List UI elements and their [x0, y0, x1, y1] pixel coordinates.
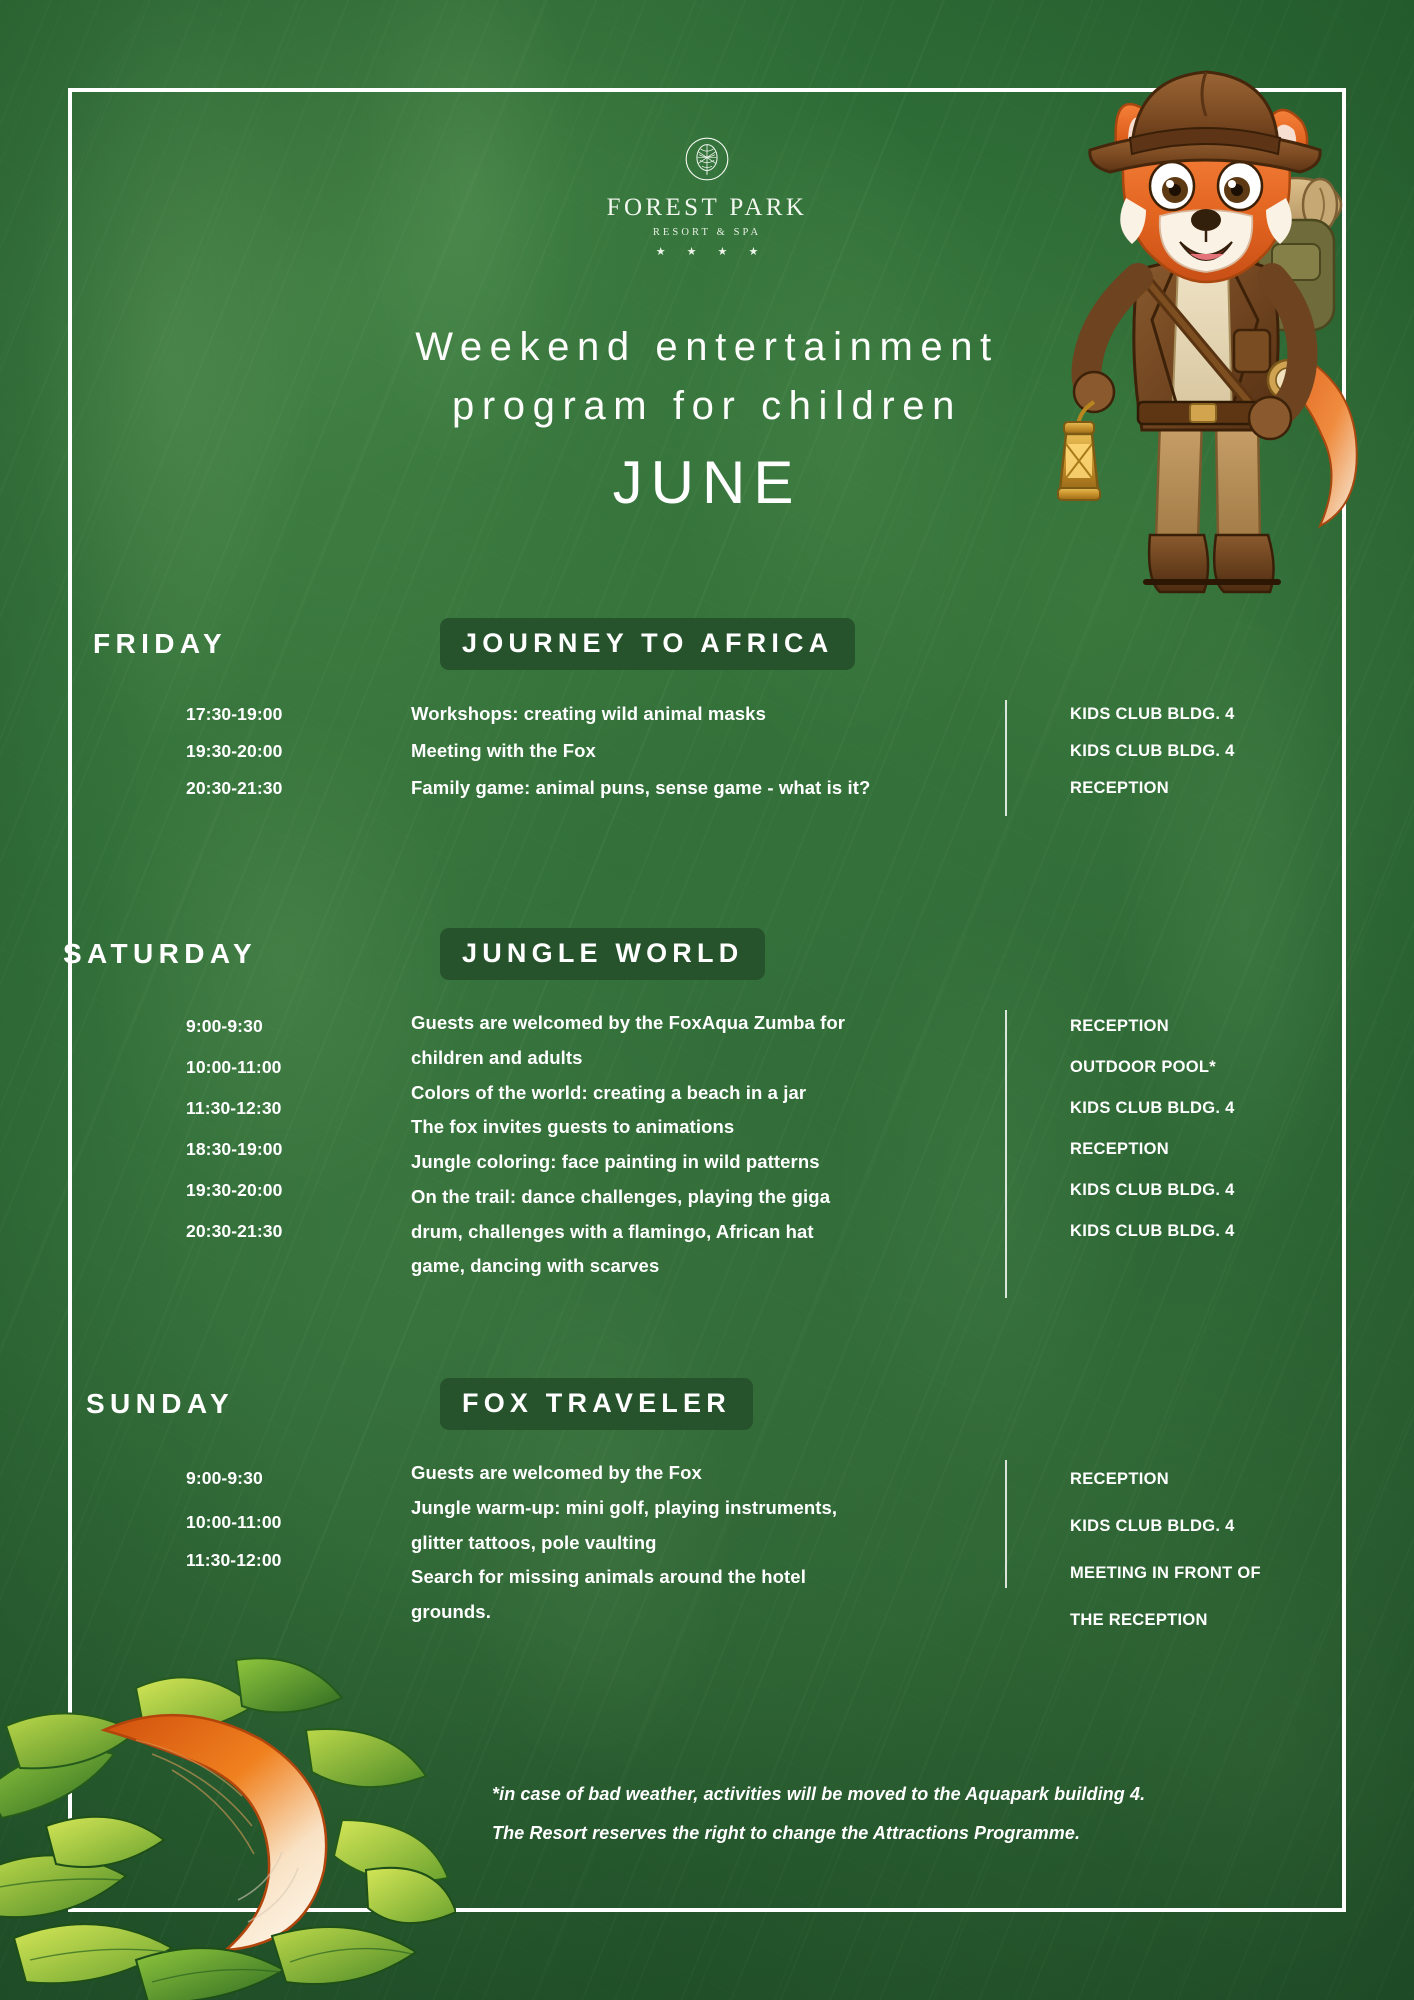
- schedule-time: 17:30-19:00: [186, 696, 411, 733]
- schedule-time: 10:00-11:00: [186, 1047, 411, 1088]
- footer-disclaimer: *in case of bad weather, activities will…: [492, 1775, 1292, 1852]
- schedule-location: RECEPTION: [1070, 770, 1350, 807]
- location-column: RECEPTION OUTDOOR POOL* KIDS CLUB BLDG. …: [1070, 1006, 1350, 1252]
- schedule-time: 20:30-21:30: [186, 770, 411, 807]
- lantern-icon: [1058, 402, 1100, 500]
- schedule-location: KIDS CLUB BLDG. 4: [1070, 696, 1350, 733]
- brand-name: FOREST PARK: [607, 194, 808, 222]
- schedule-location: RECEPTION: [1070, 1129, 1350, 1170]
- schedule-location: RECEPTION: [1070, 1456, 1350, 1503]
- poster-canvas: FOREST PARK RESORT & SPA ★ ★ ★ ★ Weekend…: [0, 0, 1414, 2000]
- jungle-foliage-fox-tail-icon: [0, 1540, 456, 2000]
- schedule-time: 9:00-9:30: [186, 1456, 411, 1500]
- schedule-activity: game, dancing with scarves: [411, 1249, 1414, 1284]
- day-body: 9:00-9:30 10:00-11:00 11:30-12:30 18:30-…: [0, 1006, 1414, 1284]
- schedule-time: 11:30-12:30: [186, 1088, 411, 1129]
- day-theme-saturday: JUNGLE WORLD: [440, 928, 765, 980]
- schedule-location: KIDS CLUB BLDG. 4: [1070, 733, 1350, 770]
- schedule-time: 9:00-9:30: [186, 1006, 411, 1047]
- day-name-friday: FRIDAY: [20, 628, 300, 660]
- schedule-location: KIDS CLUB BLDG. 4: [1070, 1503, 1350, 1550]
- day-header: SUNDAY FOX TRAVELER: [0, 1378, 1414, 1430]
- schedule-time: 10:00-11:00: [186, 1500, 411, 1544]
- schedule-location: RECEPTION: [1070, 1006, 1350, 1047]
- location-column: RECEPTION KIDS CLUB BLDG. 4 MEETING IN F…: [1070, 1456, 1350, 1644]
- day-theme-friday: JOURNEY TO AFRICA: [440, 618, 855, 670]
- schedule-location: THE RECEPTION: [1070, 1597, 1350, 1644]
- schedule-location: KIDS CLUB BLDG. 4: [1070, 1211, 1350, 1252]
- disclaimer-line-1: *in case of bad weather, activities will…: [492, 1775, 1292, 1814]
- schedule-time: 19:30-20:00: [186, 733, 411, 770]
- schedule-time: 18:30-19:00: [186, 1129, 411, 1170]
- day-name-sunday: SUNDAY: [20, 1388, 300, 1420]
- location-column: KIDS CLUB BLDG. 4 KIDS CLUB BLDG. 4 RECE…: [1070, 696, 1350, 807]
- time-column: 17:30-19:00 19:30-20:00 20:30-21:30: [186, 696, 411, 807]
- day-header: SATURDAY JUNGLE WORLD: [0, 928, 1414, 980]
- schedule-location: KIDS CLUB BLDG. 4: [1070, 1088, 1350, 1129]
- day-body: 17:30-19:00 19:30-20:00 20:30-21:30 Work…: [0, 696, 1414, 807]
- day-name-saturday: SATURDAY: [20, 938, 300, 970]
- disclaimer-line-2: The Resort reserves the right to change …: [492, 1814, 1292, 1853]
- day-theme-sunday: FOX TRAVELER: [440, 1378, 753, 1430]
- schedule-location: MEETING IN FRONT OF: [1070, 1550, 1350, 1597]
- adventurer-fox-mascot-icon: [1020, 20, 1380, 660]
- brand-tagline: RESORT & SPA: [653, 227, 761, 238]
- pinecone-emblem-icon: [684, 136, 730, 182]
- schedule-location: KIDS CLUB BLDG. 4: [1070, 1170, 1350, 1211]
- day-section-saturday: SATURDAY JUNGLE WORLD 9:00-9:30 10:00-11…: [0, 928, 1414, 1284]
- schedule-time: 20:30-21:30: [186, 1211, 411, 1252]
- schedule-location: OUTDOOR POOL*: [1070, 1047, 1350, 1088]
- brand-stars: ★ ★ ★ ★: [647, 245, 768, 258]
- schedule-time: 19:30-20:00: [186, 1170, 411, 1211]
- time-column: 9:00-9:30 10:00-11:00 11:30-12:30 18:30-…: [186, 1006, 411, 1284]
